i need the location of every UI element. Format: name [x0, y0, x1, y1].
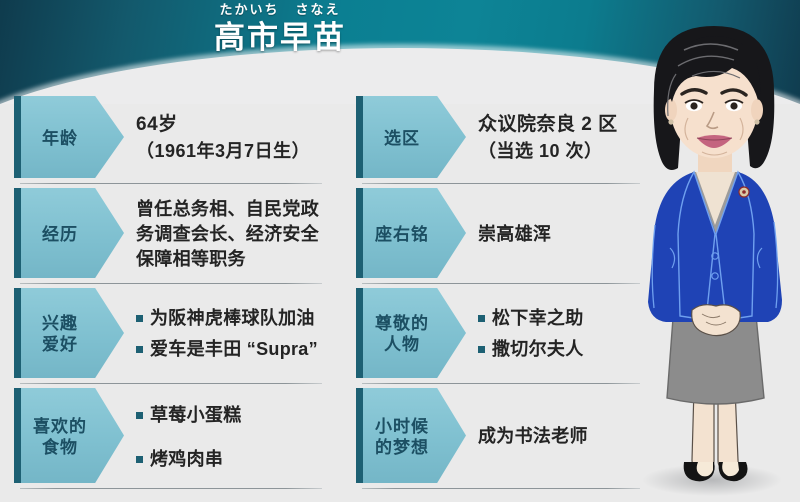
- row-label: 年龄: [42, 128, 78, 149]
- row-label-line: 爱好: [42, 334, 78, 355]
- chevron-bar: [356, 388, 363, 483]
- bullet-square-icon: [136, 412, 143, 419]
- row-divider: [362, 488, 640, 489]
- row-label-line: 食物: [33, 437, 87, 458]
- list-item: 草莓小蛋糕: [136, 393, 326, 437]
- row-label: 经历: [42, 224, 78, 245]
- value-line: 64岁: [136, 112, 326, 138]
- row-value: 松下幸之助 撒切尔夫人: [448, 284, 644, 384]
- row-label: 喜欢的 食物: [33, 416, 87, 458]
- value-bullet-list: 松下幸之助 撒切尔夫人: [478, 303, 644, 365]
- table-row: 喜欢的 食物 草莓小蛋糕 烤鸡肉串: [14, 384, 326, 489]
- list-item-label: 烤鸡肉串: [150, 449, 223, 469]
- bullet-square-icon: [136, 456, 143, 463]
- title-block: たかいちさなえ 高市早苗: [0, 2, 560, 57]
- list-item-label: 撒切尔夫人: [492, 339, 584, 359]
- value-line: （当选 10 次）: [478, 138, 644, 164]
- bullet-square-icon: [478, 346, 485, 353]
- list-item-label: 爱车是丰田 “Supra”: [150, 339, 318, 359]
- row-label-line: 人物: [375, 334, 429, 355]
- row-label: 选区: [384, 128, 420, 149]
- row-label: 尊敬的 人物: [375, 313, 429, 355]
- row-label-chevron: 经历: [14, 184, 106, 284]
- row-label-chevron: 尊敬的 人物: [356, 284, 448, 384]
- chevron-bar: [356, 288, 363, 378]
- table-row: 小时候 的梦想 成为书法老师: [356, 384, 644, 489]
- chevron-bar: [14, 388, 21, 483]
- row-label-chevron: 年龄: [14, 92, 106, 184]
- bullet-square-icon: [136, 346, 143, 353]
- table-row: 年龄 64岁 （1961年3月7日生）: [14, 92, 326, 184]
- row-label: 小时候 的梦想: [375, 416, 429, 458]
- list-item: 爱车是丰田 “Supra”: [136, 334, 326, 365]
- table-row: 尊敬的 人物 松下幸之助 撒切尔夫人: [356, 284, 644, 384]
- chevron-bar: [14, 188, 21, 278]
- row-label-chevron: 座右铭: [356, 184, 448, 284]
- furigana-family: たかいち: [219, 2, 279, 17]
- chevron-bar: [14, 288, 21, 378]
- list-item: 烤鸡肉串: [136, 437, 326, 481]
- row-label-line: 尊敬的: [375, 313, 429, 334]
- row-label-line: 小时候: [375, 416, 429, 437]
- row-value: 为阪神虎棒球队加油 爱车是丰田 “Supra”: [106, 284, 326, 384]
- furigana-given: さなえ: [296, 2, 341, 17]
- right-column: 选区 众议院奈良 2 区 （当选 10 次） 座右铭: [356, 92, 644, 489]
- left-column: 年龄 64岁 （1961年3月7日生） 经历: [14, 92, 326, 489]
- row-label-chevron: 小时候 的梦想: [356, 384, 448, 489]
- value-bullet-list: 为阪神虎棒球队加油 爱车是丰田 “Supra”: [136, 303, 326, 365]
- table-row: 座右铭 崇高雄浑: [356, 184, 644, 284]
- page-title: 高市早苗: [0, 19, 560, 57]
- list-item-label: 松下幸之助: [492, 308, 584, 328]
- row-value: 草莓小蛋糕 烤鸡肉串: [106, 384, 326, 489]
- chevron-bar: [356, 96, 363, 178]
- table-row: 选区 众议院奈良 2 区 （当选 10 次）: [356, 92, 644, 184]
- value-line: 曾任总务相、自民党政: [136, 197, 326, 222]
- infographic-root: たかいちさなえ 高市早苗 年龄 64岁 （1961年3月7日生）: [0, 0, 800, 502]
- value-line: （1961年3月7日生）: [136, 138, 326, 164]
- row-value: 曾任总务相、自民党政 务调查会长、经济安全 保障相等职务: [106, 184, 326, 284]
- chevron-bar: [14, 96, 21, 178]
- value-line: 众议院奈良 2 区: [478, 112, 644, 138]
- chevron-bar: [356, 188, 363, 278]
- list-item: 撒切尔夫人: [478, 334, 644, 365]
- list-item: 为阪神虎棒球队加油: [136, 303, 326, 334]
- row-label-chevron: 选区: [356, 92, 448, 184]
- row-label-line: 兴趣: [42, 313, 78, 334]
- row-label: 兴趣 爱好: [42, 313, 78, 355]
- list-item-label: 为阪神虎棒球队加油: [150, 308, 315, 328]
- bullet-square-icon: [136, 315, 143, 322]
- value-line: 成为书法老师: [478, 424, 644, 449]
- row-label-line: 喜欢的: [33, 416, 87, 437]
- row-label: 座右铭: [375, 224, 429, 245]
- value-bullet-list: 草莓小蛋糕 烤鸡肉串: [136, 393, 326, 481]
- value-line: 崇高雄浑: [478, 222, 644, 247]
- row-value: 众议院奈良 2 区 （当选 10 次）: [448, 92, 644, 184]
- row-label-chevron: 喜欢的 食物: [14, 384, 106, 489]
- row-divider: [20, 488, 322, 489]
- value-line: 务调查会长、经济安全: [136, 222, 326, 247]
- table-row: 兴趣 爱好 为阪神虎棒球队加油 爱车是丰田 “Supra”: [14, 284, 326, 384]
- value-line: 保障相等职务: [136, 247, 326, 272]
- portrait-illustration: [622, 20, 798, 500]
- row-value: 成为书法老师: [448, 384, 644, 489]
- row-value: 崇高雄浑: [448, 184, 644, 284]
- furigana: たかいちさなえ: [0, 2, 560, 18]
- row-label-line: 的梦想: [375, 437, 429, 458]
- table-row: 经历 曾任总务相、自民党政 务调查会长、经济安全 保障相等职务: [14, 184, 326, 284]
- list-item: 松下幸之助: [478, 303, 644, 334]
- list-item-label: 草莓小蛋糕: [150, 405, 242, 425]
- row-value: 64岁 （1961年3月7日生）: [106, 92, 326, 184]
- row-label-chevron: 兴趣 爱好: [14, 284, 106, 384]
- bullet-square-icon: [478, 315, 485, 322]
